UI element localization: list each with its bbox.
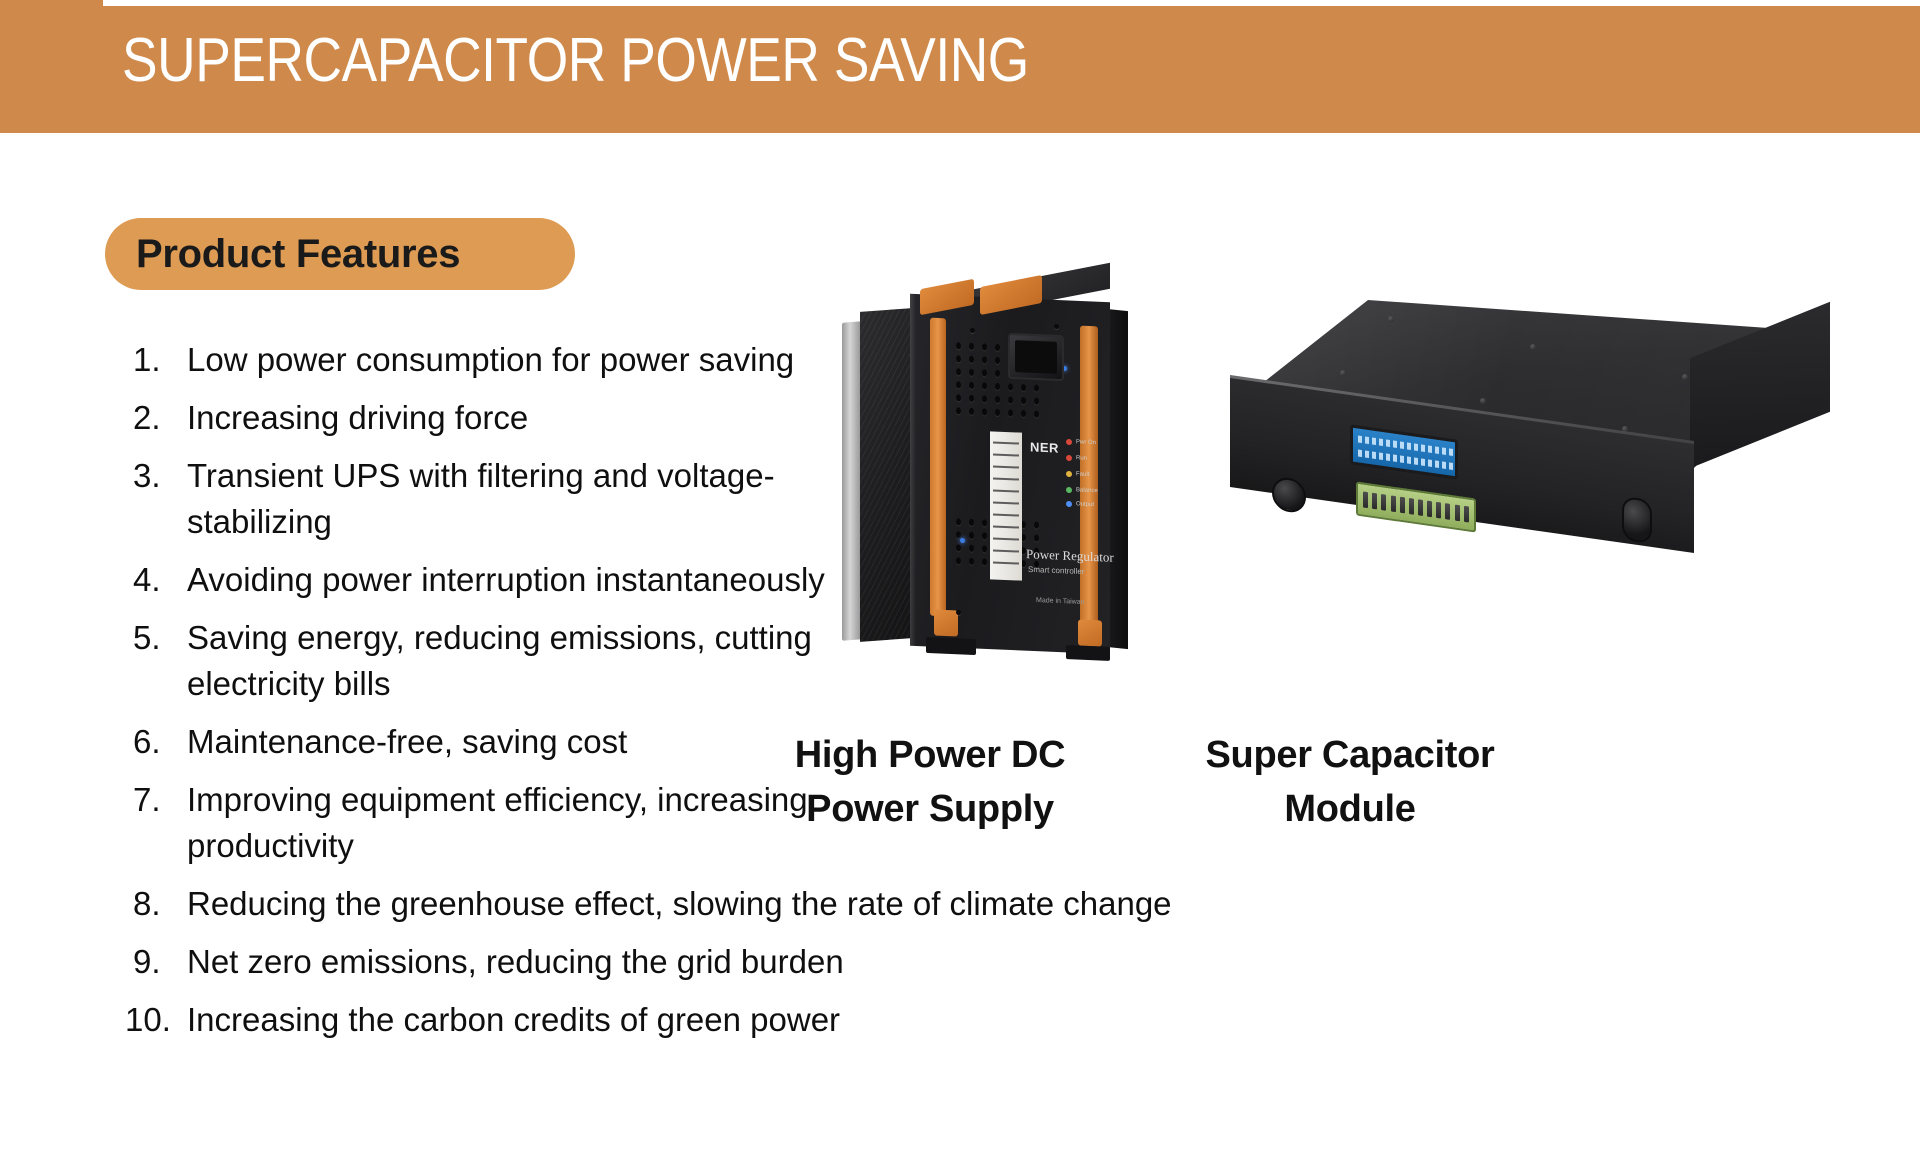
- list-item-label: Saving energy, reducing emissions, cutti…: [187, 615, 827, 707]
- list-item-label: Low power consumption for power saving: [187, 337, 794, 383]
- list-item-label: Maintenance-free, saving cost: [187, 719, 627, 765]
- list-item-number: 4.: [125, 557, 187, 603]
- device-screw: [970, 328, 975, 333]
- list-item: 7. Improving equipment efficiency, incre…: [125, 777, 1205, 869]
- page-title: SUPERCAPACITOR POWER SAVING: [122, 25, 1029, 96]
- list-item: 2. Increasing driving force: [125, 395, 1205, 441]
- list-item-number: 2.: [125, 395, 187, 441]
- list-item-label: Increasing driving force: [187, 395, 528, 441]
- list-item-number: 6.: [125, 719, 187, 765]
- product-features-pill: Product Features: [105, 218, 575, 290]
- device-screw: [1054, 324, 1059, 329]
- device-orange-cap-top-right: [980, 275, 1042, 315]
- list-item-label: Net zero emissions, reducing the grid bu…: [187, 939, 844, 985]
- list-item-number: 7.: [125, 777, 187, 823]
- module-screw: [1388, 316, 1394, 322]
- list-item: 5. Saving energy, reducing emissions, cu…: [125, 615, 1205, 707]
- device-top-surface: [912, 263, 1110, 327]
- lcd-text-row: [1358, 435, 1456, 456]
- list-item-number: 1.: [125, 337, 187, 383]
- list-item: 8. Reducing the greenhouse effect, slowi…: [125, 881, 1205, 927]
- list-item-number: 3.: [125, 453, 187, 499]
- module-top-highlight: [1230, 300, 1830, 470]
- super-capacitor-module-image: [1230, 300, 1860, 660]
- module-screw: [1682, 374, 1688, 380]
- lcd-text-row: [1358, 449, 1456, 470]
- product-features-label: Product Features: [136, 232, 460, 277]
- module-terminal-block: [1356, 481, 1476, 532]
- module-vent-strip: [1700, 350, 1742, 370]
- list-item-number: 5.: [125, 615, 187, 661]
- list-item: 4. Avoiding power interruption instantan…: [125, 557, 1205, 603]
- module-right-side-panel: [1690, 302, 1830, 469]
- list-item-number: 10.: [125, 997, 187, 1043]
- list-item: 1. Low power consumption for power savin…: [125, 337, 1205, 383]
- module-top-plate: [1230, 300, 1830, 470]
- list-item: 6. Maintenance-free, saving cost: [125, 719, 1205, 765]
- header-bar: SUPERCAPACITOR POWER SAVING: [0, 0, 1920, 133]
- list-item: 10. Increasing the carbon credits of gre…: [125, 997, 1205, 1043]
- module-screw: [1530, 344, 1536, 350]
- module-screw: [1340, 370, 1346, 376]
- module-connector-right: [1622, 496, 1652, 544]
- device-orange-cap-top-left: [920, 279, 974, 315]
- module-connector-left: [1272, 476, 1306, 515]
- feature-list: 1. Low power consumption for power savin…: [125, 337, 1205, 1055]
- list-item-number: 8.: [125, 881, 187, 927]
- header-top-notch: [103, 0, 1920, 6]
- list-item: 9. Net zero emissions, reducing the grid…: [125, 939, 1205, 985]
- module-front-panel: [1230, 375, 1694, 553]
- list-item-label: Reducing the greenhouse effect, slowing …: [187, 881, 1172, 927]
- list-item-label: Transient UPS with filtering and voltage…: [187, 453, 827, 545]
- module-screw: [1622, 426, 1628, 432]
- list-item-label: Avoiding power interruption instantaneou…: [187, 557, 825, 603]
- module-lcd-display: [1350, 424, 1458, 479]
- list-item-number: 9.: [125, 939, 187, 985]
- list-item: 3. Transient UPS with filtering and volt…: [125, 453, 1205, 545]
- list-item-label: Increasing the carbon credits of green p…: [187, 997, 840, 1043]
- list-item-label: Improving equipment efficiency, increasi…: [187, 777, 827, 869]
- module-screw: [1480, 398, 1486, 404]
